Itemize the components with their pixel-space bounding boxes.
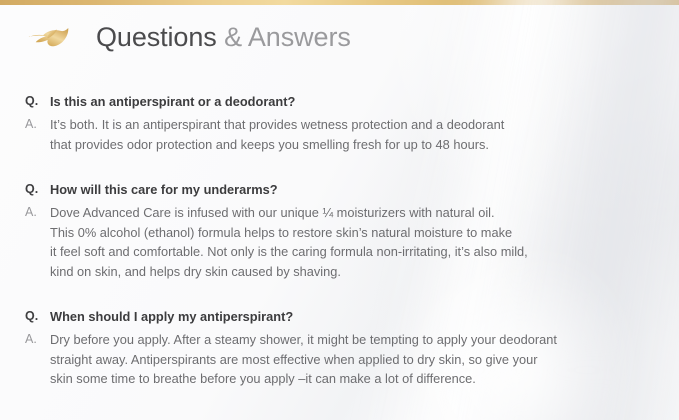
question-text: Is this an antiperspirant or a deodorant…: [50, 92, 295, 111]
answer-line: skin some time to breathe before you app…: [50, 369, 557, 389]
qa-list: Q. Is this an antiperspirant or a deodor…: [25, 92, 655, 389]
question-text: How will this care for my underarms?: [50, 180, 278, 199]
answer-marker: A.: [25, 115, 50, 134]
answer-line: It’s both. It is an antiperspirant that …: [50, 115, 504, 135]
answer-line: it feel soft and comfortable. Not only i…: [50, 242, 528, 262]
answer-text: Dove Advanced Care is infused with our u…: [50, 203, 528, 281]
answer-row: A. Dove Advanced Care is infused with ou…: [25, 203, 655, 281]
answer-line: that provides odor protection and keeps …: [50, 135, 504, 155]
answer-line: Dry before you apply. After a steamy sho…: [50, 330, 557, 350]
page-title-light: & Answers: [224, 22, 351, 52]
answer-text: It’s both. It is an antiperspirant that …: [50, 115, 504, 154]
question-marker: Q.: [25, 92, 50, 111]
question-marker: Q.: [25, 307, 50, 326]
answer-row: A. It’s both. It is an antiperspirant th…: [25, 115, 655, 154]
question-text: When should I apply my antiperspirant?: [50, 307, 293, 326]
question-row: Q. When should I apply my antiperspirant…: [25, 307, 655, 326]
qa-page: Questions & Answers Q. Is this an antipe…: [0, 0, 679, 420]
question-row: Q. Is this an antiperspirant or a deodor…: [25, 92, 655, 111]
question-row: Q. How will this care for my underarms?: [25, 180, 655, 199]
answer-line: This 0% alcohol (ethanol) formula helps …: [50, 223, 528, 243]
answer-row: A. Dry before you apply. After a steamy …: [25, 330, 655, 389]
page-title-strong: Questions: [96, 22, 217, 52]
page-title: Questions & Answers: [96, 24, 351, 51]
answer-marker: A.: [25, 330, 50, 349]
qa-item: Q. How will this care for my underarms? …: [25, 180, 655, 281]
answer-line: Dove Advanced Care is infused with our u…: [50, 203, 528, 223]
dove-logo-icon: [27, 22, 71, 52]
qa-item: Q. Is this an antiperspirant or a deodor…: [25, 92, 655, 154]
qa-item: Q. When should I apply my antiperspirant…: [25, 307, 655, 389]
question-marker: Q.: [25, 180, 50, 199]
answer-line: straight away. Antiperspirants are most …: [50, 350, 557, 370]
answer-text: Dry before you apply. After a steamy sho…: [50, 330, 557, 389]
answer-line: kind on skin, and helps dry skin caused …: [50, 262, 528, 282]
page-header: Questions & Answers: [27, 22, 351, 52]
answer-marker: A.: [25, 203, 50, 222]
gold-top-border: [0, 0, 679, 5]
